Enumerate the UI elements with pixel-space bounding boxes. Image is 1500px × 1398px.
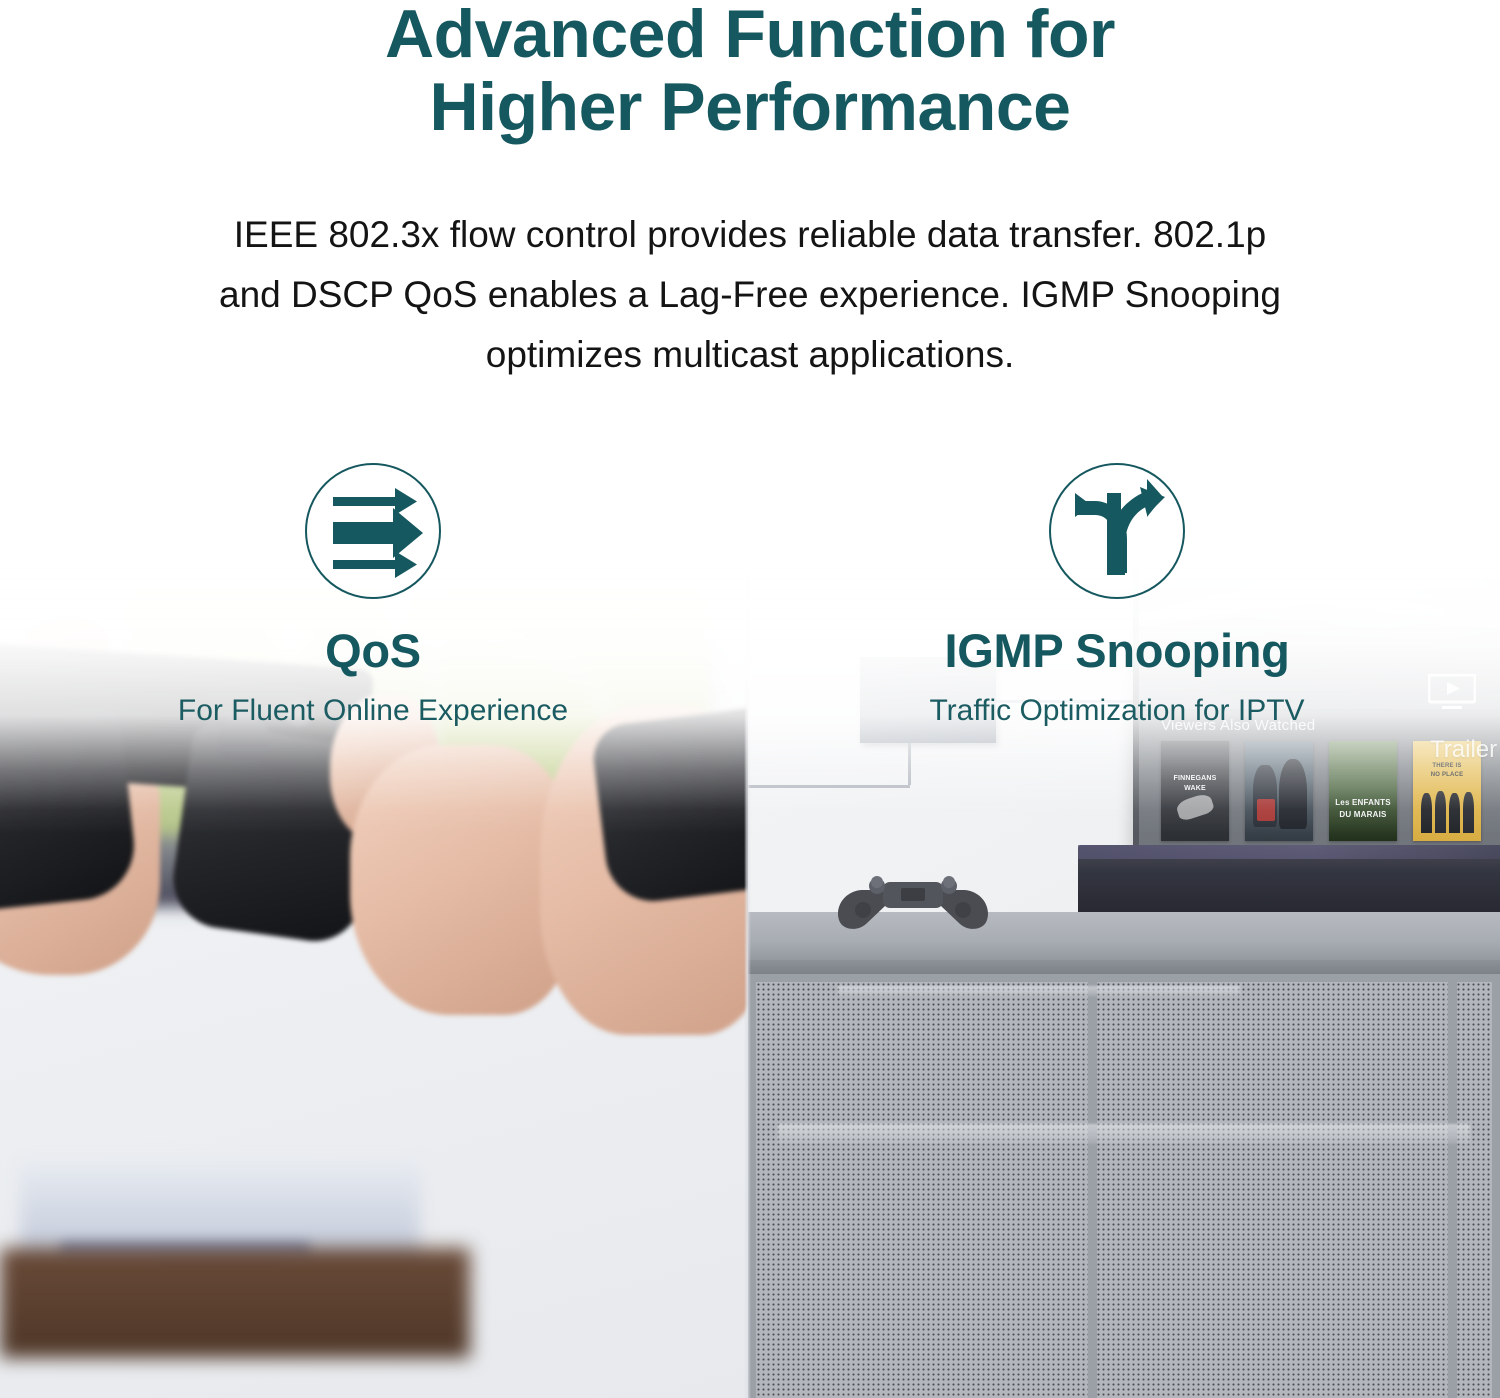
feature-title: QoS: [73, 625, 673, 677]
feature-subtitle: Traffic Optimization for IPTV: [817, 693, 1417, 729]
feature-qos: QoS For Fluent Online Experience: [73, 463, 673, 729]
feature-title: IGMP Snooping: [817, 625, 1417, 677]
feature-igmp-snooping: IGMP Snooping Traffic Optimization for I…: [817, 463, 1417, 729]
product-feature-banner: Viewers Also Watched FINNEGANS WAKE: [0, 0, 1500, 1398]
feature-row: QoS For Fluent Online Experience: [0, 0, 1500, 1398]
feature-subtitle: For Fluent Online Experience: [73, 693, 673, 729]
three-arrows-icon: [305, 463, 441, 599]
branching-arrow-icon: [1049, 463, 1185, 599]
